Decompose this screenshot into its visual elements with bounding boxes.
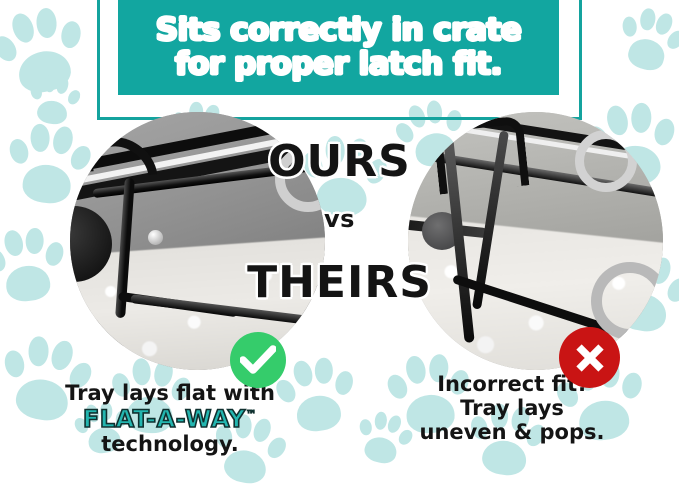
label-ours: OURS: [0, 136, 679, 187]
header-line-2: for proper latch fit.: [175, 48, 502, 81]
check-badge: [230, 332, 286, 388]
x-badge: [559, 327, 620, 388]
brand-name: FLAT-A-WAY: [83, 405, 246, 433]
brand-flat-a-way: FLAT-A-WAY™: [10, 406, 330, 433]
caption-ours-line-1: Tray lays flat with: [10, 382, 330, 406]
label-theirs: THEIRS: [0, 257, 679, 308]
caption-theirs-line-3: uneven & pops.: [352, 421, 672, 445]
caption-ours-line-3: technology.: [10, 433, 330, 457]
caption-theirs-line-2: Tray lays: [352, 397, 672, 421]
header-line-1: Sits correctly in crate: [156, 14, 522, 47]
header-banner: Sits correctly in crate for proper latch…: [118, 0, 559, 95]
trademark-symbol: ™: [246, 408, 258, 421]
paw-print-icon: [610, 0, 679, 82]
close-icon: [574, 342, 606, 374]
label-vs: vs: [0, 205, 679, 233]
check-icon: [240, 345, 276, 375]
caption-ours: Tray lays flat with FLAT-A-WAY™ technolo…: [10, 382, 330, 457]
caption-theirs-line-1: Incorrect fit!: [352, 373, 672, 397]
caption-theirs: Incorrect fit! Tray lays uneven & pops.: [352, 373, 672, 445]
infographic-canvas: Sits correctly in crate for proper latch…: [0, 0, 679, 485]
